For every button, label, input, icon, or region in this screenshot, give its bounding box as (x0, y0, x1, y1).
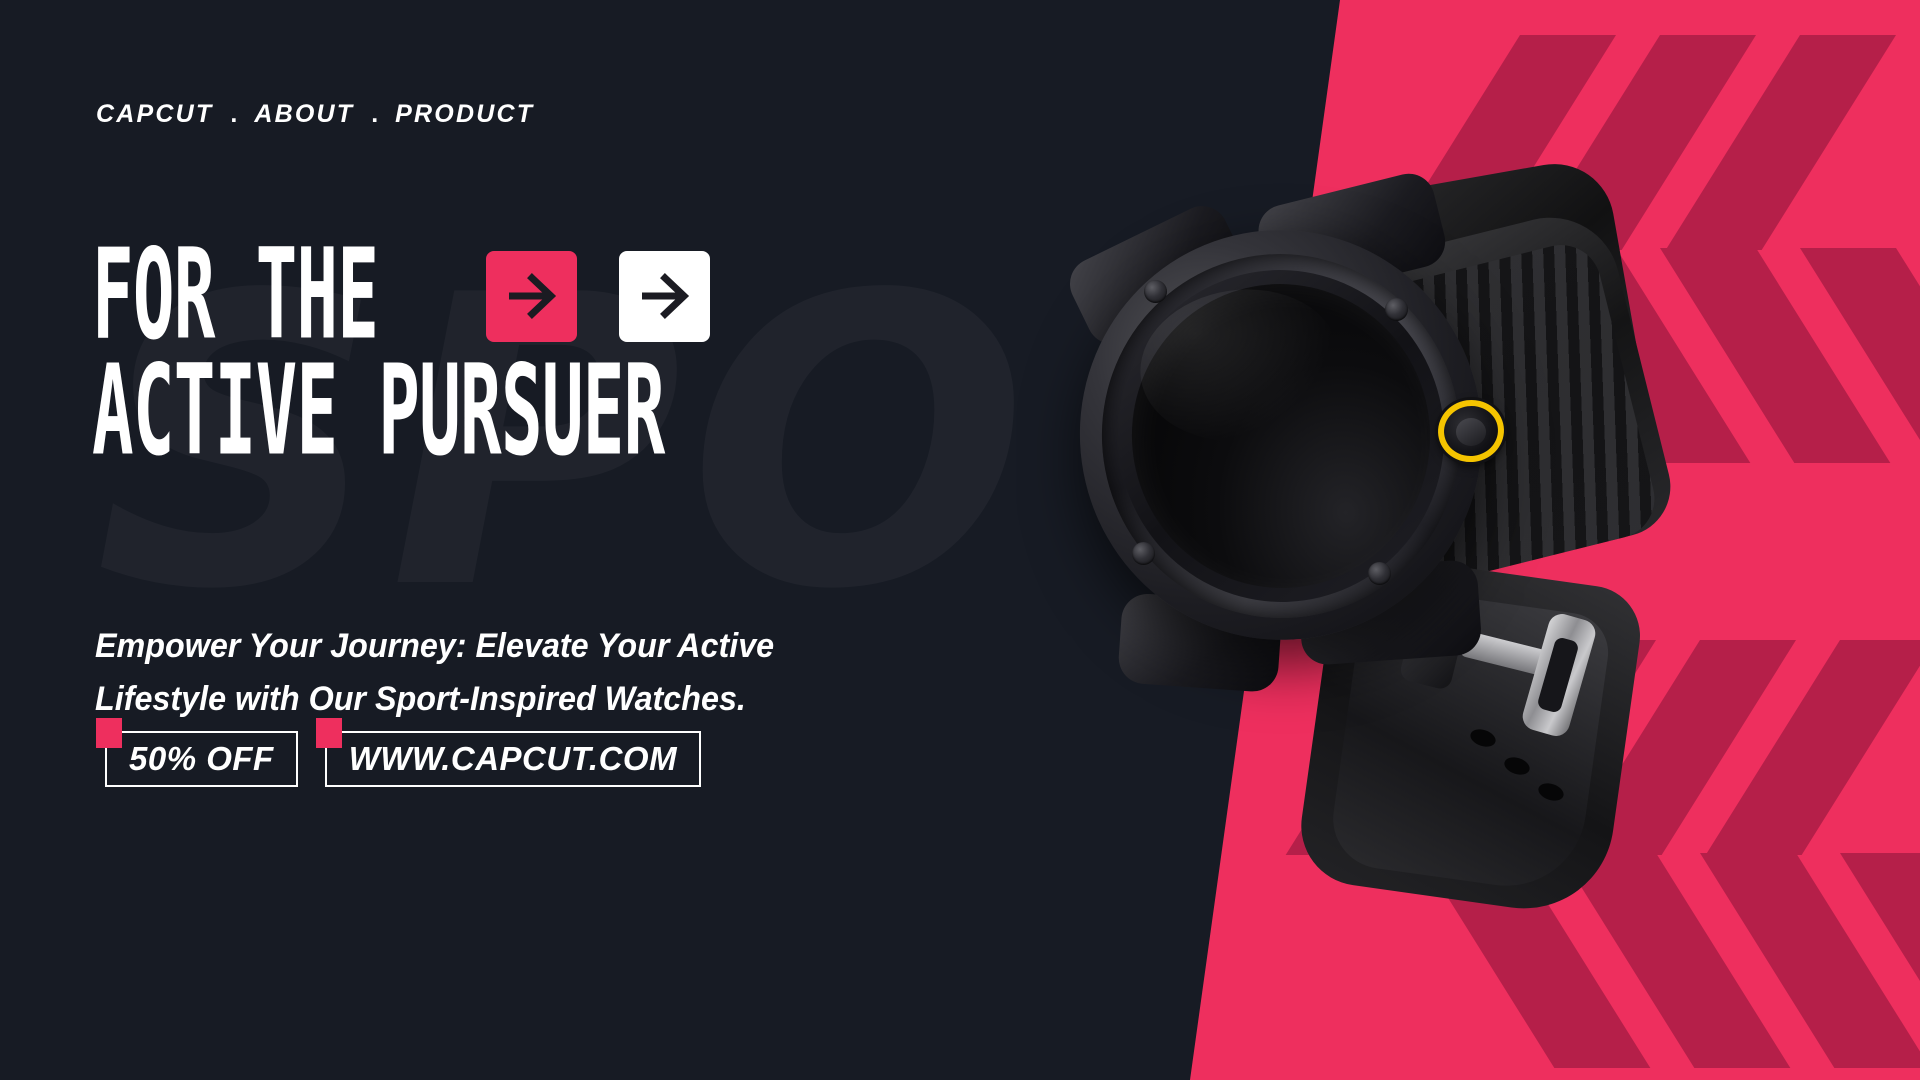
banner-canvas: SPO CAPCUT . ABOUT . PRODUCT FOR THE (0, 0, 1920, 1080)
arrow-right-icon (503, 268, 559, 324)
badge-corner-square (96, 718, 122, 748)
bezel-screw (1144, 280, 1167, 303)
bezel-screw (1132, 542, 1155, 565)
website-badge-wrapper: WWW.CAPCUT.COM (316, 718, 701, 787)
arrow-button-group[interactable] (486, 251, 710, 342)
product-image-smartwatch (1080, 170, 1780, 910)
discount-badge[interactable]: 50% OFF (105, 731, 298, 787)
badge-corner-square (316, 718, 342, 748)
headline-block: FOR THE ACTIVE PURSUER (92, 248, 992, 460)
badge-row: 50% OFF WWW.CAPCUT.COM (96, 718, 701, 787)
bezel-screw (1368, 562, 1391, 585)
website-badge[interactable]: WWW.CAPCUT.COM (325, 731, 701, 787)
subtitle-text: Empower Your Journey: Elevate Your Activ… (95, 620, 817, 725)
discount-badge-label: 50% OFF (129, 740, 274, 778)
chevron-icon (1840, 640, 1920, 940)
nav-separator: . (354, 100, 395, 129)
bezel-screw (1385, 298, 1408, 321)
arrow-button-secondary[interactable] (619, 251, 710, 342)
nav-item-about[interactable]: ABOUT (254, 100, 354, 129)
discount-badge-wrapper: 50% OFF (96, 718, 298, 787)
headline-row-two: ACTIVE PURSUER (92, 364, 992, 460)
chevron-icon (1800, 35, 1920, 335)
watch-crown-center (1456, 418, 1486, 446)
arrow-right-icon (636, 268, 692, 324)
top-navigation[interactable]: CAPCUT . ABOUT . PRODUCT (96, 100, 534, 129)
headline-line-2: ACTIVE PURSUER (92, 353, 665, 472)
nav-item-capcut[interactable]: CAPCUT (96, 100, 213, 129)
nav-item-product[interactable]: PRODUCT (395, 100, 534, 129)
nav-separator: . (213, 100, 254, 129)
website-badge-label: WWW.CAPCUT.COM (349, 740, 677, 778)
arrow-button-primary[interactable] (486, 251, 577, 342)
headline-row-one: FOR THE (92, 248, 992, 344)
